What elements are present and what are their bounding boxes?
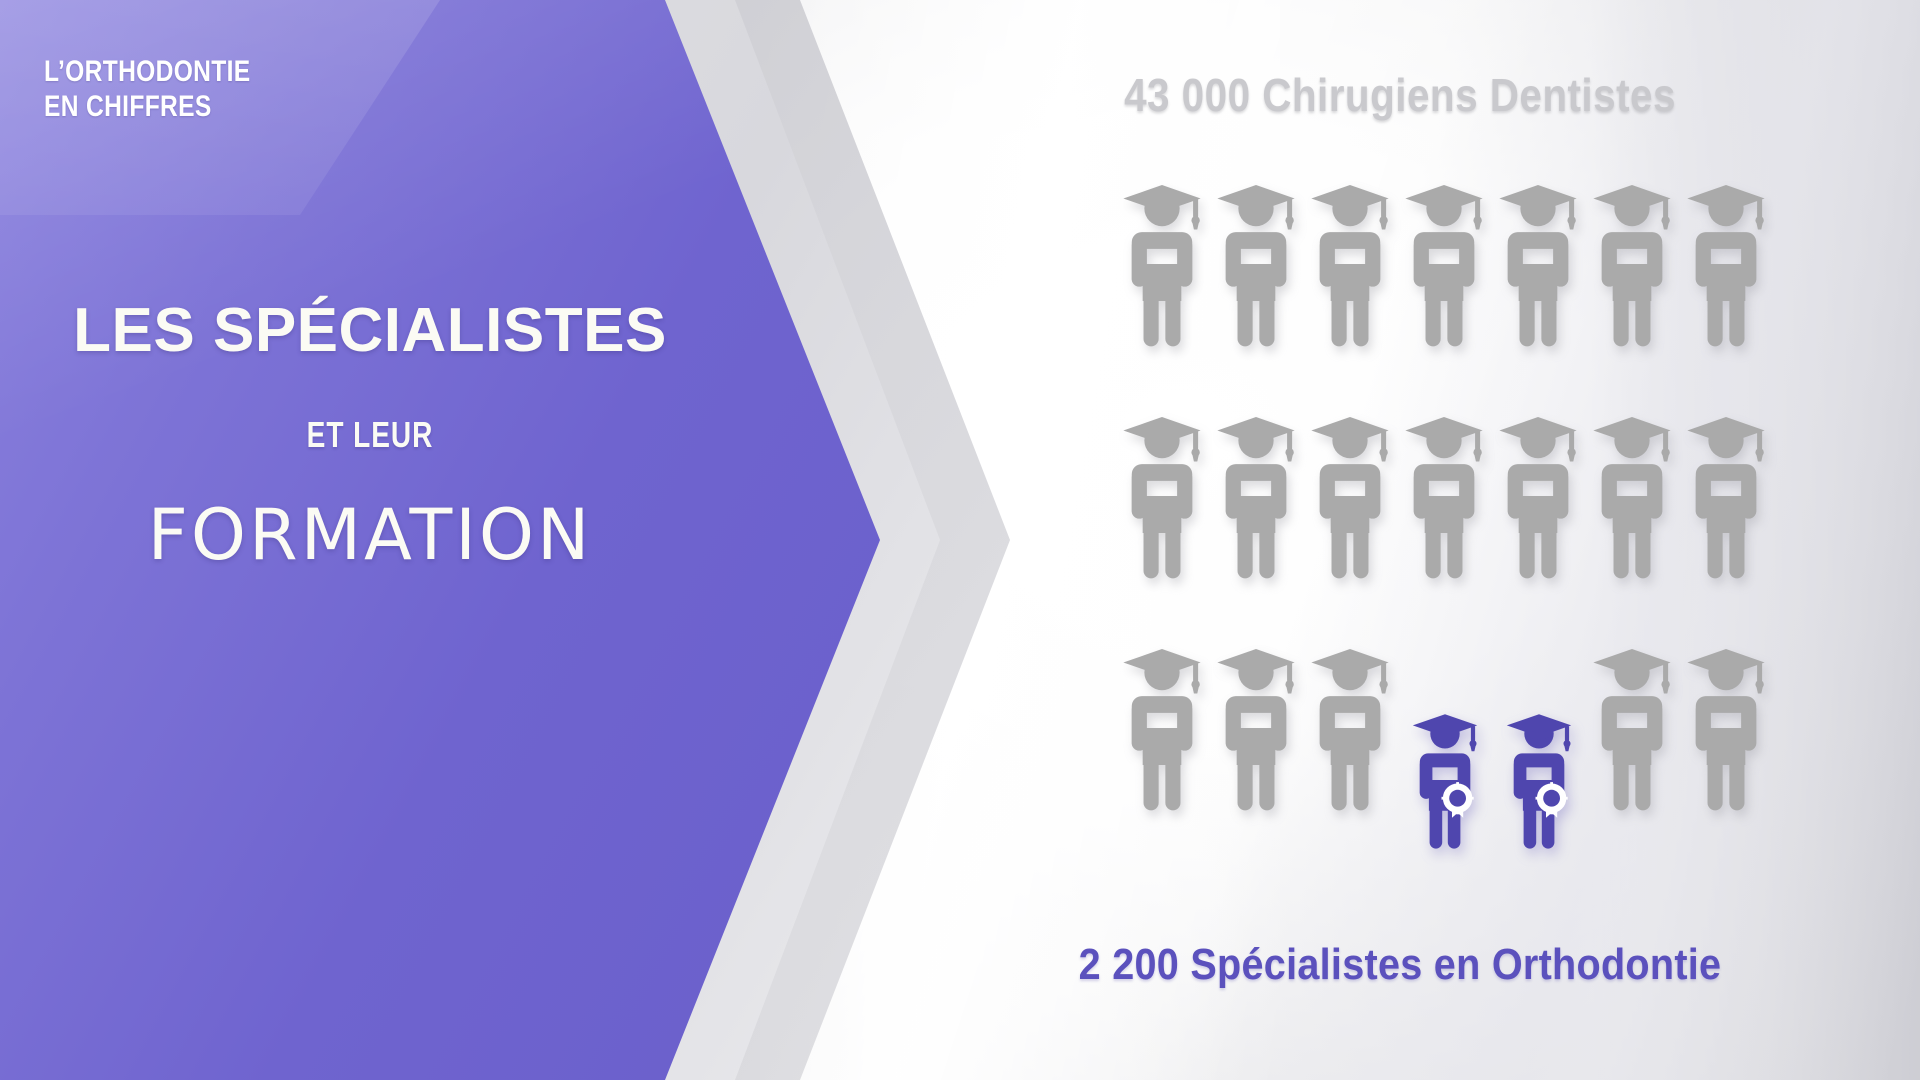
graduate-person-gray-icon	[1496, 412, 1580, 580]
graduate-person-gray-icon	[1402, 412, 1486, 580]
kicker-line-1: L’ORTHODONTIE	[44, 55, 251, 88]
graduate-person-gray-icon	[1120, 412, 1204, 580]
graduate-person-gray-icon	[1402, 180, 1486, 348]
infographic-canvas: L’ORTHODONTIE EN CHIFFRES LES SPÉCIALIST…	[0, 0, 1920, 1080]
title-subject: FORMATION	[60, 494, 680, 576]
graduate-person-gray-icon	[1590, 412, 1674, 580]
graduate-person-gray-icon	[1590, 644, 1674, 812]
specialists-caption: 2 200 Spécialistes en Orthodontie	[950, 940, 1850, 990]
graduate-person-gray-icon	[1496, 180, 1580, 348]
graduate-person-gray-icon	[1214, 180, 1298, 348]
pictogram-grid	[1120, 180, 1800, 900]
title-main: LES SPÉCIALISTES	[60, 300, 680, 362]
graduate-person-gray-icon	[1684, 644, 1768, 812]
graduate-person-gray-icon	[1120, 644, 1204, 812]
graduate-person-gray-icon	[1308, 644, 1392, 812]
dentists-total-heading: 43 000 Chirugiens Dentistes	[960, 68, 1840, 122]
kicker-line-2: EN CHIFFRES	[44, 89, 315, 124]
graduate-specialist-purple-icon	[1504, 710, 1574, 850]
graduate-person-gray-icon	[1308, 412, 1392, 580]
graduate-specialist-purple-icon	[1410, 710, 1480, 850]
kicker-heading: L’ORTHODONTIE EN CHIFFRES	[44, 54, 315, 124]
graduate-person-gray-icon	[1308, 180, 1392, 348]
graduate-person-gray-icon	[1684, 180, 1768, 348]
page-title: LES SPÉCIALISTES ET LEUR FORMATION	[60, 300, 680, 576]
graduate-person-gray-icon	[1214, 412, 1298, 580]
graduate-person-gray-icon	[1590, 180, 1674, 348]
graduate-person-gray-icon	[1214, 644, 1298, 812]
graduate-person-gray-icon	[1120, 180, 1204, 348]
graduate-person-gray-icon	[1684, 412, 1768, 580]
title-connector: ET LEUR	[128, 414, 612, 456]
